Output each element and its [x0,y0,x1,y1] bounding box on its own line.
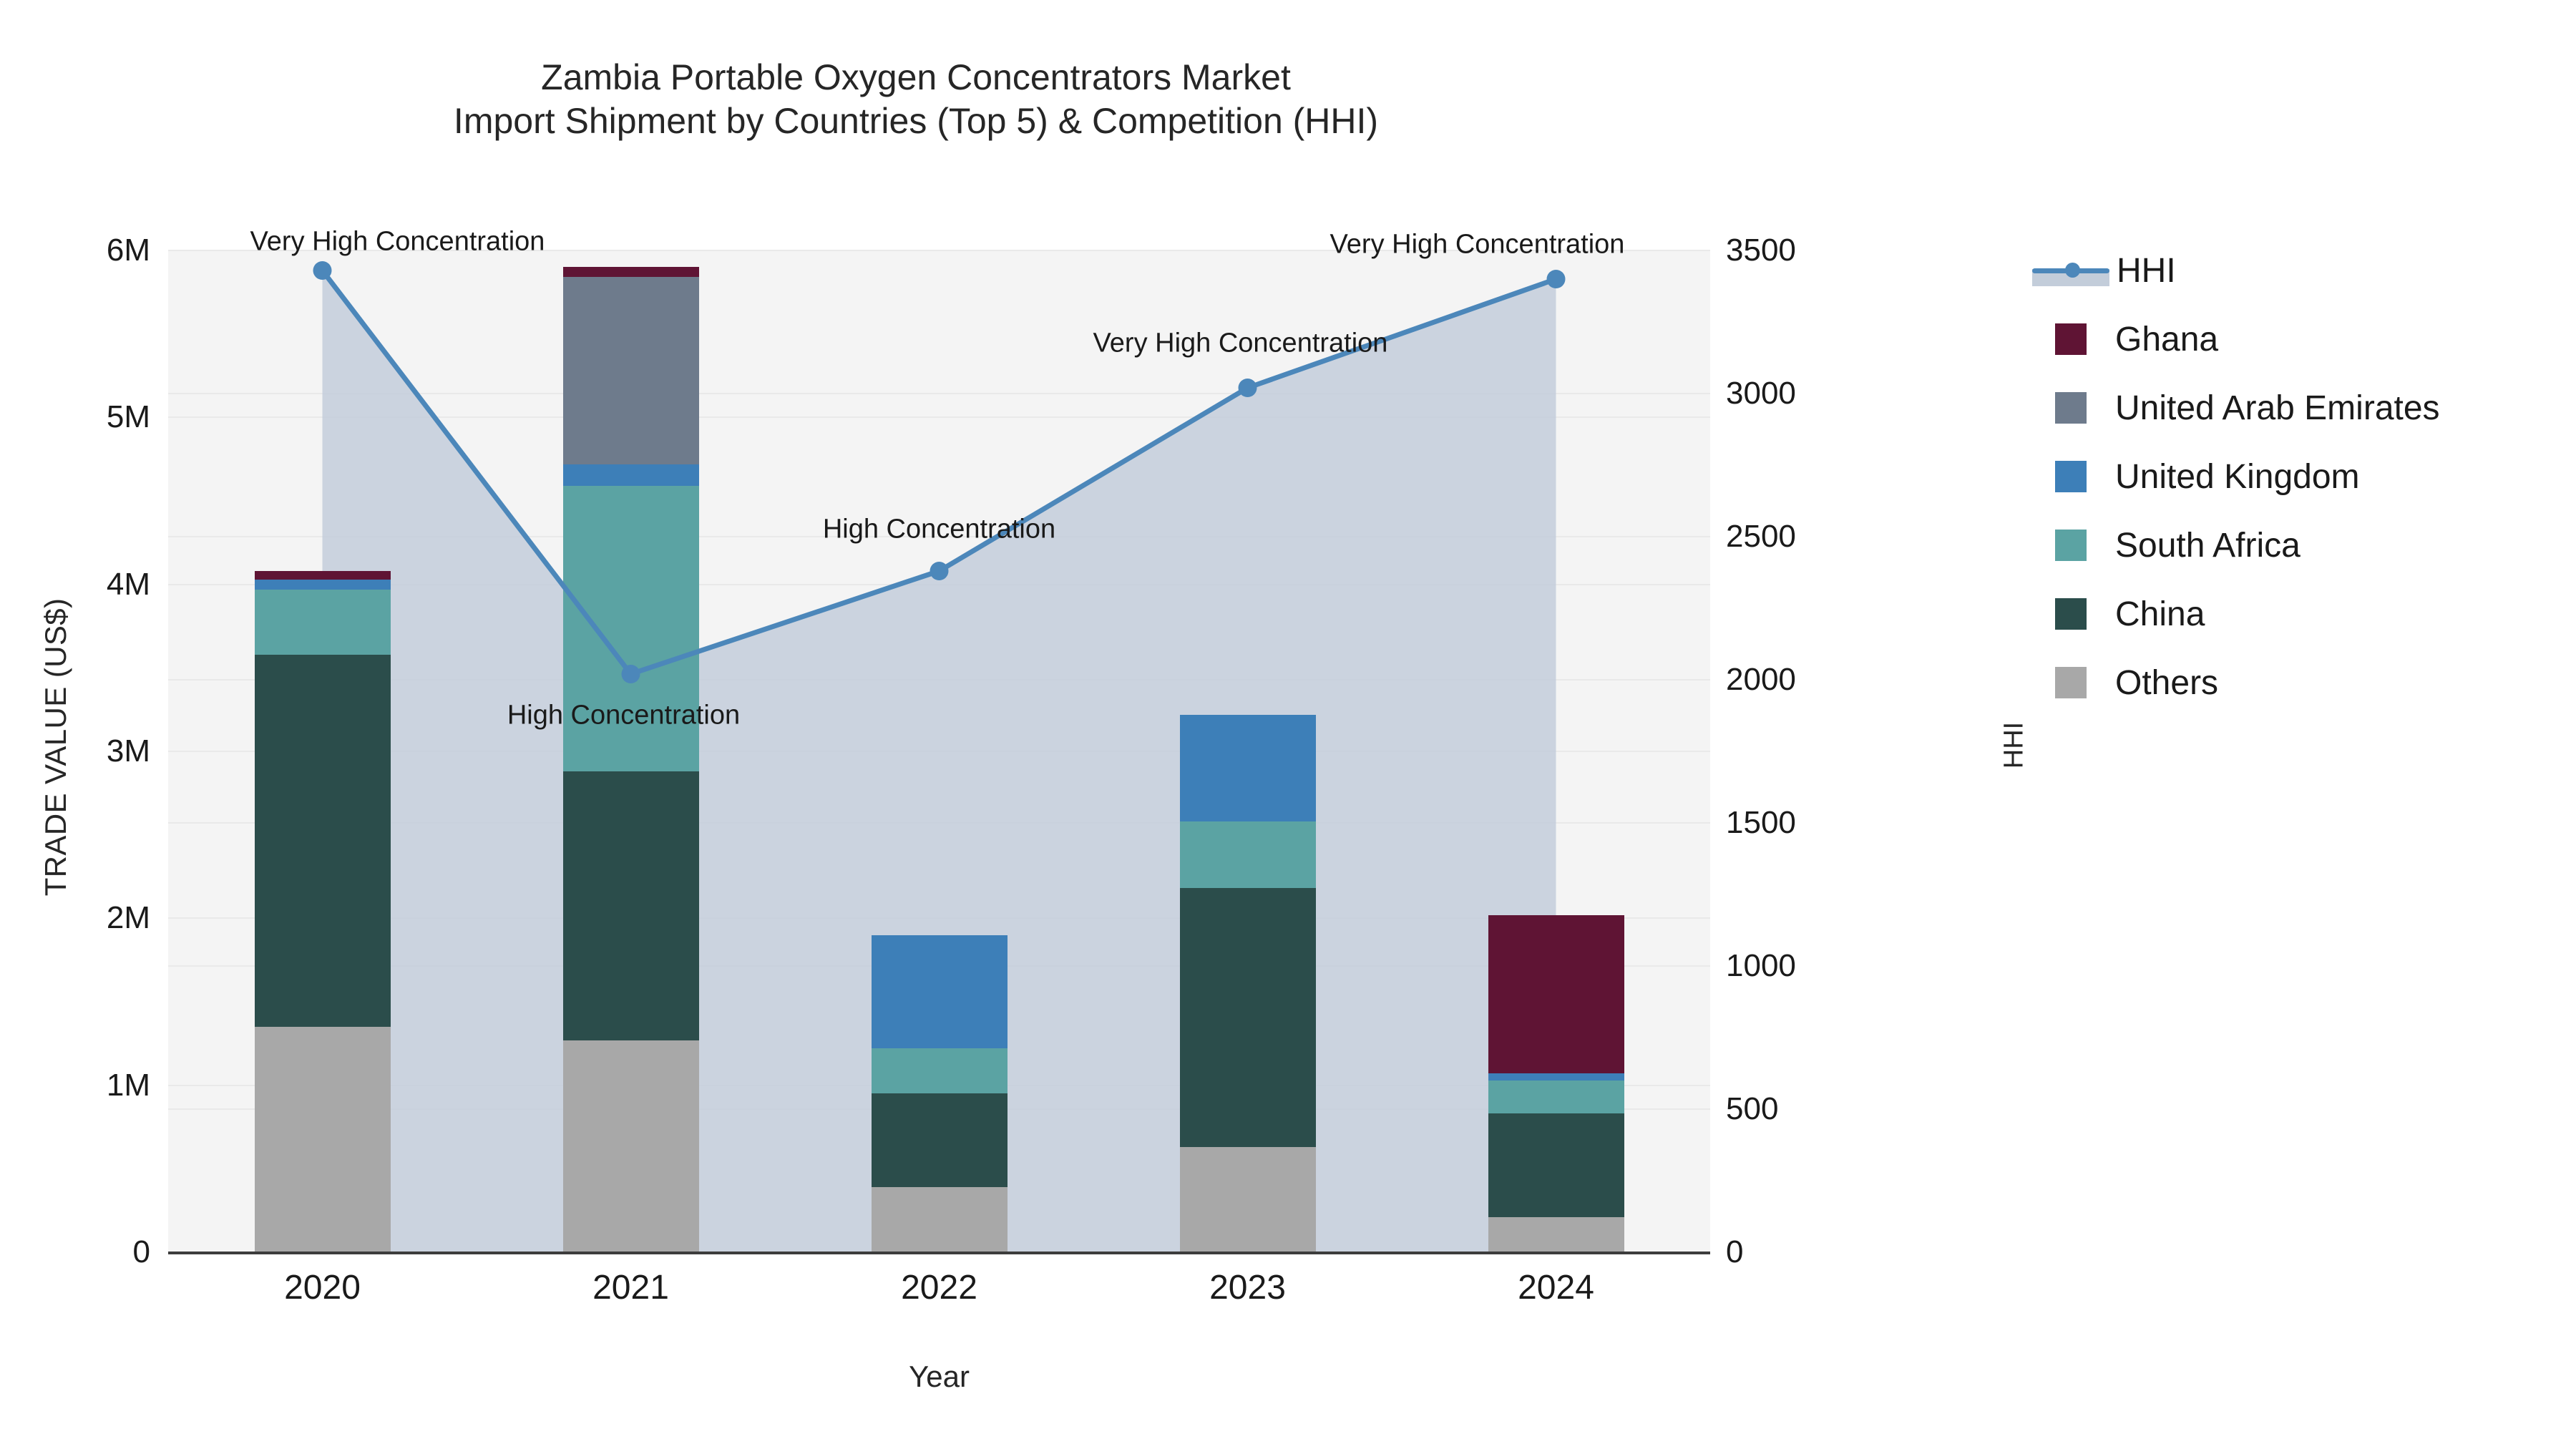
y-tick-label-primary: 2M [14,900,150,936]
y-tick-label-primary: 4M [14,567,150,602]
legend: HHIGhanaUnited Arab EmiratesUnited Kingd… [2032,236,2547,717]
legend-item-label: Others [2115,663,2218,703]
legend-line-marker-icon [2032,255,2109,286]
y-tick-label-primary: 0 [14,1234,150,1270]
bar-segment[interactable] [872,1093,1008,1187]
y-tick-label-secondary: 3000 [1726,376,1890,411]
bar-column[interactable] [255,250,391,1252]
x-tick-label: 2021 [524,1268,738,1307]
chart-title-line1: Zambia Portable Oxygen Concentrators Mar… [541,57,1291,97]
plot-area: Very High ConcentrationHigh Concentratio… [168,250,1710,1252]
bar-segment[interactable] [563,277,699,464]
bar-segment[interactable] [872,1048,1008,1093]
bar-segment[interactable] [563,1040,699,1252]
concentration-annotation: Very High Concentration [1093,328,1388,359]
x-tick-label: 2022 [832,1268,1047,1307]
bar-column[interactable] [1180,250,1316,1252]
chart-canvas: Zambia Portable Oxygen Concentrators Mar… [0,0,2576,1449]
legend-item-label: HHI [2117,251,2176,291]
legend-item[interactable]: China [2032,580,2547,648]
y-tick-label-secondary: 3500 [1726,233,1890,268]
y-tick-label-primary: 5M [14,399,150,435]
bar-segment[interactable] [563,771,699,1040]
legend-item[interactable]: HHI [2032,236,2547,305]
x-tick-label: 2020 [215,1268,430,1307]
bar-segment[interactable] [255,580,391,590]
bar-segment[interactable] [1180,888,1316,1147]
bar-segment[interactable] [1488,1073,1624,1080]
y-tick-label-primary: 3M [14,733,150,769]
bar-segment[interactable] [1488,915,1624,1074]
bar-segment[interactable] [872,935,1008,1049]
bar-segment[interactable] [563,464,699,486]
y-tick-label-secondary: 1000 [1726,948,1890,984]
y-tick-label-secondary: 2500 [1726,519,1890,555]
legend-color-swatch [2055,461,2087,492]
legend-item-label: United Arab Emirates [2115,389,2440,428]
bar-segment[interactable] [255,655,391,1027]
y-tick-label-primary: 6M [14,233,150,268]
bar-segment[interactable] [1180,821,1316,888]
bar-segment[interactable] [872,1187,1008,1252]
bar-segment[interactable] [1180,1147,1316,1252]
bar-column[interactable] [1488,250,1624,1252]
bar-column[interactable] [563,250,699,1252]
concentration-annotation: High Concentration [823,514,1055,545]
legend-item[interactable]: Ghana [2032,305,2547,374]
legend-item-label: China [2115,595,2205,634]
bar-segment[interactable] [255,590,391,655]
legend-item-label: United Kingdom [2115,457,2360,497]
concentration-annotation: Very High Concentration [1330,230,1625,260]
chart-title-line2: Import Shipment by Countries (Top 5) & C… [0,99,1832,143]
legend-dot [2065,263,2080,278]
bar-segment[interactable] [1488,1217,1624,1252]
y-tick-label-secondary: 0 [1726,1234,1890,1270]
bar-segment[interactable] [255,571,391,580]
legend-item[interactable]: United Arab Emirates [2032,374,2547,442]
chart-title: Zambia Portable Oxygen Concentrators Mar… [0,56,1832,143]
concentration-annotation: High Concentration [507,701,740,731]
x-tick-label: 2023 [1141,1268,1355,1307]
legend-color-swatch [2055,323,2087,355]
bar-segment[interactable] [1180,715,1316,821]
legend-item-label: Ghana [2115,320,2218,359]
bar-segment[interactable] [1488,1113,1624,1217]
legend-item-label: South Africa [2115,526,2301,565]
x-axis-label: Year [168,1360,1710,1394]
y-tick-label-secondary: 2000 [1726,662,1890,698]
bar-segment[interactable] [1488,1080,1624,1114]
legend-color-swatch [2055,530,2087,561]
y-tick-label-primary: 1M [14,1068,150,1103]
y-tick-label-secondary: 500 [1726,1091,1890,1127]
legend-color-swatch [2055,392,2087,424]
y-axis-label-secondary: HHI [1999,653,2030,839]
legend-item[interactable]: South Africa [2032,511,2547,580]
legend-item[interactable]: United Kingdom [2032,442,2547,511]
x-axis-line [168,1252,1710,1254]
bar-column[interactable] [872,250,1008,1252]
legend-item[interactable]: Others [2032,648,2547,717]
concentration-annotation: Very High Concentration [250,227,545,258]
legend-color-swatch [2055,598,2087,630]
bar-segment[interactable] [255,1027,391,1252]
y-tick-label-secondary: 1500 [1726,805,1890,841]
x-tick-label: 2024 [1449,1268,1664,1307]
bar-segment[interactable] [563,267,699,277]
legend-color-swatch [2055,667,2087,698]
